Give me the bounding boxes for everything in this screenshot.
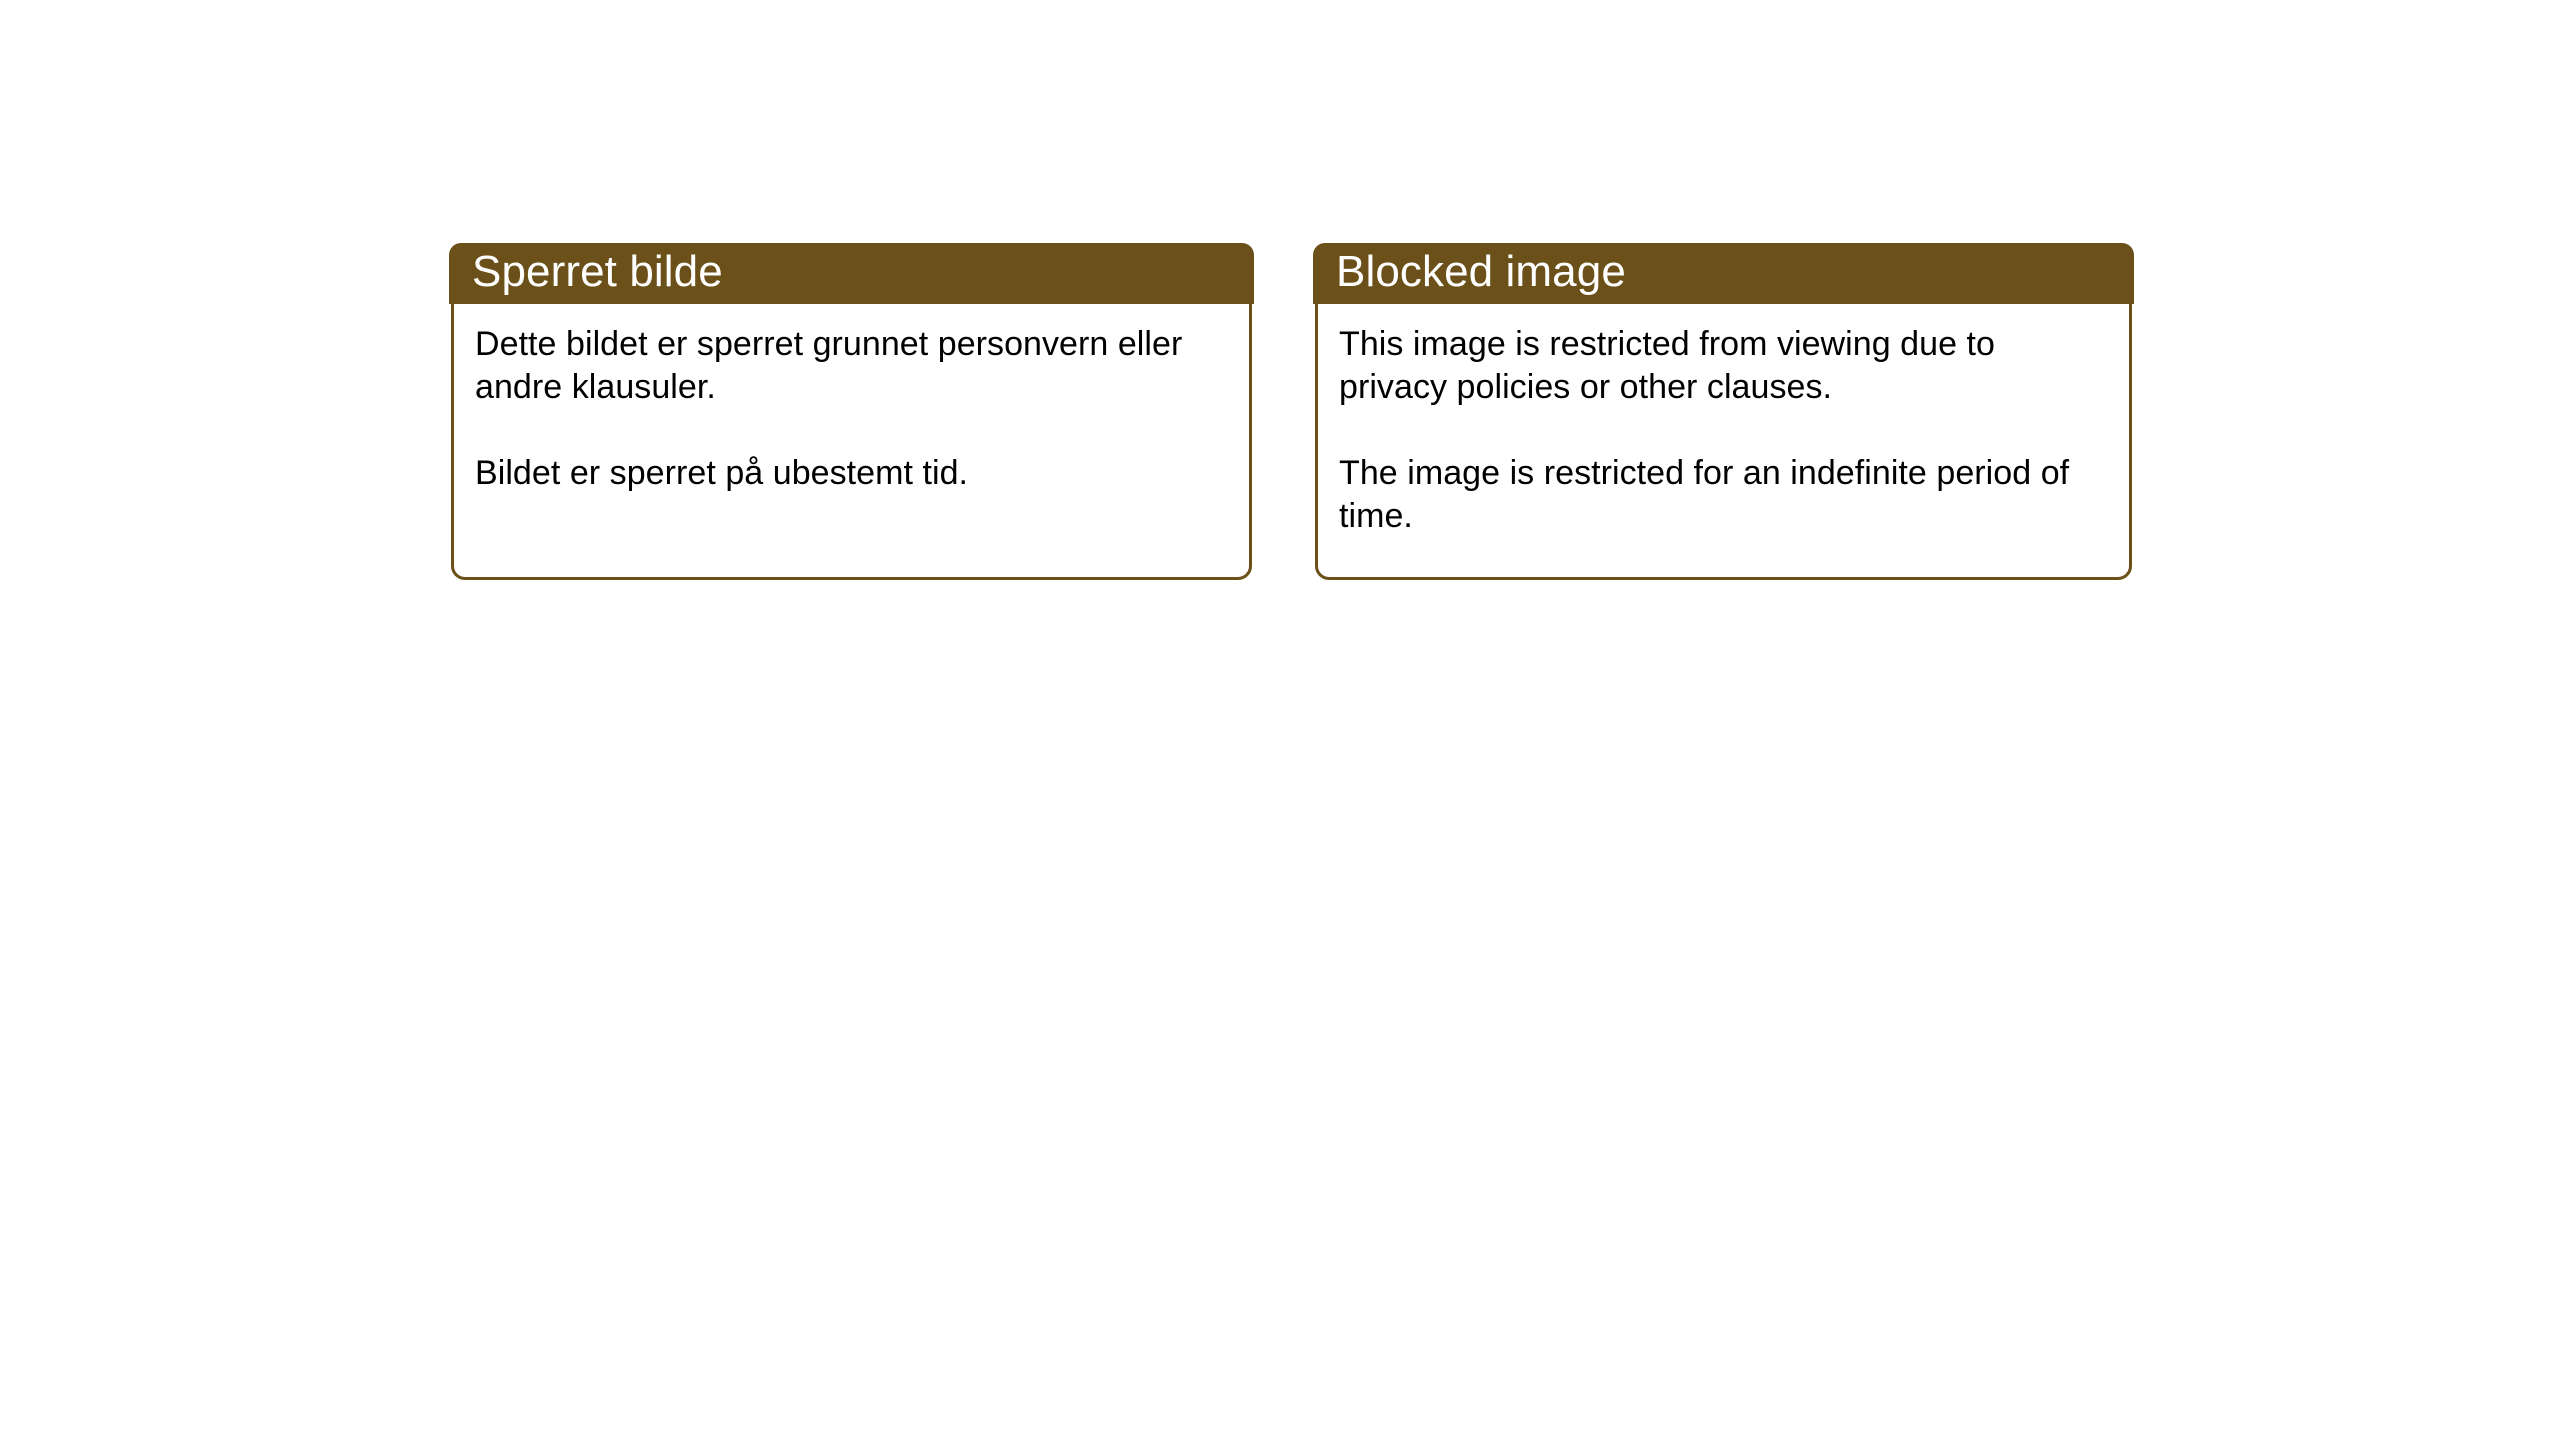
blocked-image-card-norwegian: Sperret bilde Dette bildet er sperret gr… [449,243,1254,580]
card-header-bar: Blocked image [1313,243,2134,304]
card-content: Dette bildet er sperret grunnet personve… [451,301,1252,580]
card-title: Blocked image [1313,249,1626,295]
card-header-bar: Sperret bilde [449,243,1254,304]
notice-paragraph: This image is restricted from viewing du… [1339,323,2108,409]
paragraph-spacer [1339,409,2108,452]
blocked-image-card-english: Blocked image This image is restricted f… [1313,243,2134,580]
notice-paragraph: Dette bildet er sperret grunnet personve… [475,323,1228,409]
notice-paragraph: The image is restricted for an indefinit… [1339,452,2108,538]
page-root: Sperret bilde Dette bildet er sperret gr… [0,0,2560,1440]
paragraph-spacer [475,409,1228,452]
card-content: This image is restricted from viewing du… [1315,301,2132,580]
notice-paragraph: Bildet er sperret på ubestemt tid. [475,452,1228,495]
card-title: Sperret bilde [449,249,723,295]
